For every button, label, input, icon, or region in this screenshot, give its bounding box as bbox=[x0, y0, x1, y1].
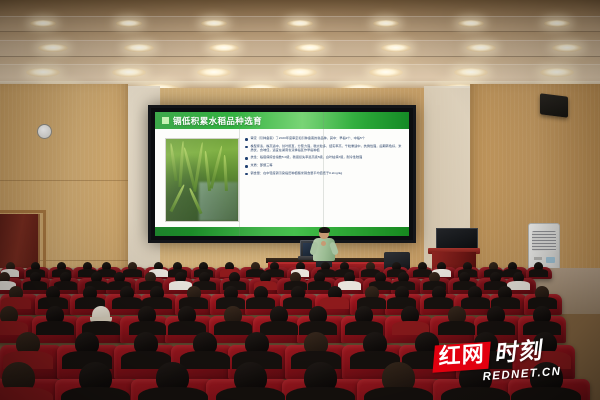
bullet-dot-icon bbox=[245, 138, 248, 141]
audience-shoulders bbox=[180, 351, 230, 369]
audience-shoulders bbox=[338, 281, 361, 290]
rice-blade bbox=[170, 184, 185, 212]
ceiling-downlight bbox=[116, 20, 142, 27]
audience-shoulders bbox=[424, 297, 453, 308]
audience-shoulders bbox=[260, 321, 298, 335]
ceiling-downlight bbox=[197, 68, 231, 77]
audience-shoulders bbox=[23, 281, 46, 290]
audience-shoulders bbox=[438, 321, 476, 335]
watermark-script: 时刻 bbox=[494, 340, 545, 367]
ceiling-downlight bbox=[544, 20, 570, 27]
audience-shoulders bbox=[123, 269, 142, 276]
ceiling-downlight bbox=[26, 68, 60, 77]
audience-shoulders bbox=[529, 269, 548, 276]
presenter-hand bbox=[321, 241, 326, 246]
audience-shoulders bbox=[308, 281, 331, 290]
slide-header-bar: 镉低积累水稻品种选育 bbox=[155, 112, 409, 129]
presenter-hair bbox=[319, 227, 330, 233]
watermark-brand: 红网 bbox=[439, 344, 485, 369]
wall-clock bbox=[37, 124, 52, 139]
audience-shoulders bbox=[112, 297, 141, 308]
ceiling-downlight bbox=[112, 68, 146, 77]
wall-panel-seam bbox=[0, 180, 128, 181]
watermark-box: 红网 bbox=[433, 342, 491, 373]
audience-shoulders bbox=[138, 387, 207, 400]
ceiling-downlight bbox=[287, 20, 313, 27]
ceiling-downlight bbox=[552, 44, 582, 52]
audience-shoulders bbox=[320, 297, 349, 308]
projection-screen: 镉低积累水稻品种选育 审定（引种备案）了2020年度审定和引种备案的新品种，其中… bbox=[148, 105, 416, 243]
wall-speaker-icon bbox=[540, 93, 568, 117]
audience-shoulders bbox=[246, 297, 275, 308]
ceiling-downlight bbox=[30, 20, 56, 27]
screen-seam bbox=[323, 112, 324, 236]
audience-shoulders bbox=[216, 387, 285, 400]
screen-seam bbox=[239, 112, 240, 236]
ceiling-downlight bbox=[124, 44, 154, 52]
bullet-square-icon bbox=[162, 117, 169, 124]
audience-shoulders bbox=[511, 387, 580, 400]
slide-bullet-text: 审定（引种备案）了2020年度审定和引种备案的新品种，其中：早稻2个、中稻5个 bbox=[251, 136, 365, 141]
slide-bullet-list: 审定（引种备案）了2020年度审定和引种备案的新品种，其中：早稻2个、中稻5个株… bbox=[244, 134, 405, 222]
audience-shoulders bbox=[0, 387, 53, 400]
slide-title: 镉低积累水稻品种选育 bbox=[173, 115, 262, 127]
ceiling-downlight bbox=[369, 68, 403, 77]
bullet-dot-icon bbox=[245, 173, 248, 176]
slide-bullet-text: 抗性：稻瘟病综合指数5.0级，穗瘟损失率最高级5级，白叶枯病7级，耐冷性较强 bbox=[251, 155, 363, 160]
ceiling-downlight bbox=[38, 44, 68, 52]
rice-paddy-photo bbox=[165, 138, 239, 222]
slide-bullet: 审定（引种备案）了2020年度审定和引种备案的新品种，其中：早稻2个、中稻5个 bbox=[245, 136, 403, 141]
slide-bullet: 株型紧凑，株高适中，剑叶挺直，分蘖力强，穗大粒多，结实率高，千粒重适中，抗倒性强… bbox=[245, 144, 403, 153]
ceiling-downlight bbox=[373, 20, 399, 27]
paddy-water bbox=[199, 182, 238, 221]
bullet-dot-icon bbox=[245, 165, 248, 168]
slide-bullet: 镉含量：在中轻度镉污染稻田种植糙米镉含量平均值低于0.2mg/kg bbox=[245, 171, 403, 176]
ceiling-downlight bbox=[283, 68, 317, 77]
audience-shoulders bbox=[283, 297, 312, 308]
bullet-dot-icon bbox=[245, 157, 248, 160]
rice-blade bbox=[169, 143, 177, 181]
audience-shoulders bbox=[36, 321, 74, 335]
slide-bullet-text: 株型紧凑，株高适中，剑叶挺直，分蘖力强，穗大粒多，结实率高，千粒重适中，抗倒性强… bbox=[251, 144, 404, 153]
audience-shoulders bbox=[461, 297, 490, 308]
lecture-hall-photo: 镉低积累水稻品种选育 审定（引种备案）了2020年度审定和引种备案的新品种，其中… bbox=[0, 0, 600, 400]
bullet-dot-icon bbox=[245, 146, 248, 149]
audience-shoulders bbox=[214, 321, 252, 335]
slide-footer-bar bbox=[155, 227, 409, 236]
ceiling-downlight bbox=[540, 68, 574, 77]
slide-bullet-text: 镉含量：在中轻度镉污染稻田种植糙米镉含量平均值低于0.2mg/kg bbox=[251, 171, 343, 176]
rice-blade bbox=[223, 155, 227, 191]
slide-body: 审定（引种备案）了2020年度审定和引种备案的新品种，其中：早稻2个、中稻5个株… bbox=[155, 129, 409, 227]
audience-shoulders bbox=[364, 387, 433, 400]
slide-bullet-text: 米质：部颁三等 bbox=[251, 163, 273, 168]
audience-shoulders bbox=[61, 387, 130, 400]
ac-vent-icon bbox=[532, 231, 556, 251]
slide-bullet: 抗性：稻瘟病综合指数5.0级，穗瘟损失率最高级5级，白叶枯病7级，耐冷性较强 bbox=[245, 155, 403, 160]
ceiling-downlight bbox=[295, 44, 325, 52]
slide-bullet: 米质：部颁三等 bbox=[245, 163, 403, 168]
audience-shoulders bbox=[286, 387, 355, 400]
slide-surface: 镉低积累水稻品种选育 审定（引种备案）了2020年度审定和引种备案的新品种，其中… bbox=[155, 112, 409, 236]
audience-shoulders bbox=[441, 387, 510, 400]
ceiling-downlight bbox=[381, 44, 411, 52]
